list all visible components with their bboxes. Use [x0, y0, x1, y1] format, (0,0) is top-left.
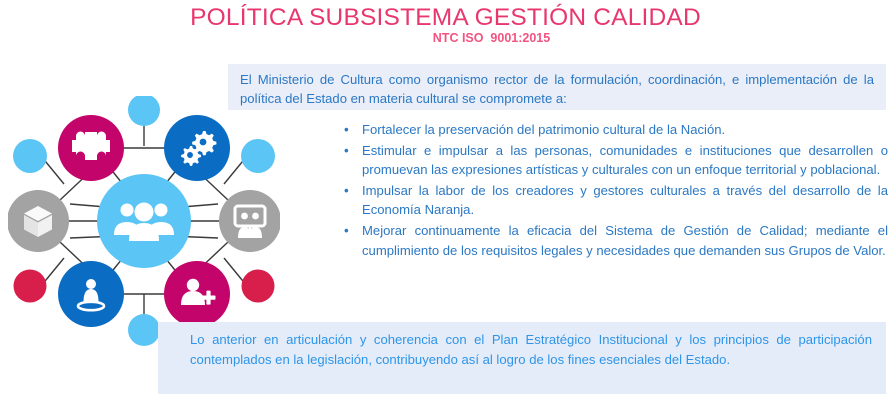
closing-paragraph: Lo anterior en articulación y coherencia…	[190, 330, 872, 369]
accent-dot-upper-right	[241, 139, 275, 173]
list-item-text: Mejorar continuamente la eficacia del Si…	[362, 221, 888, 260]
node-gears	[164, 115, 230, 181]
node-person-podium	[58, 261, 124, 327]
accent-dot-lower-right	[242, 270, 275, 303]
list-item: • Estimular e impulsar a las personas, c…	[340, 141, 888, 180]
page-title: POLÍTICA SUBSISTEMA GESTIÓN CALIDAD	[0, 4, 891, 32]
page-header: POLÍTICA SUBSISTEMA GESTIÓN CALIDAD NTC …	[0, 0, 891, 56]
bullet-marker-icon: •	[340, 221, 362, 241]
list-item: • Mejorar continuamente la eficacia del …	[340, 221, 888, 260]
bullet-marker-icon: •	[340, 120, 362, 140]
node-center-group-people	[97, 174, 191, 268]
commitments-list: • Fortalecer la preservación del patrimo…	[340, 120, 888, 261]
bullet-marker-icon: •	[340, 141, 362, 161]
list-item: • Impulsar la labor de los creadores y g…	[340, 181, 888, 220]
standard-subtitle: NTC ISO 9001:2015	[0, 31, 891, 45]
list-item-text: Estimular e impulsar a las personas, com…	[362, 141, 888, 180]
accent-dot-lower-left	[14, 270, 47, 303]
accent-dot-top-center	[128, 96, 160, 126]
intro-paragraph: El Ministerio de Cultura como organismo …	[240, 70, 874, 108]
accent-dot-bottom-center	[128, 314, 160, 346]
node-add-user	[164, 261, 230, 327]
list-item-text: Impulsar la labor de los creadores y ges…	[362, 181, 888, 220]
accent-dot-upper-left	[13, 139, 47, 173]
network-cluster-diagram	[8, 96, 280, 346]
node-puzzle-piece	[58, 115, 124, 181]
closing-text-box: Lo anterior en articulación y coherencia…	[158, 322, 886, 394]
list-item: • Fortalecer la preservación del patrimo…	[340, 120, 888, 140]
node-box-3d	[8, 190, 69, 252]
intro-text-box: El Ministerio de Cultura como organismo …	[228, 64, 886, 110]
bullet-marker-icon: •	[340, 181, 362, 201]
node-presentation-board	[219, 190, 280, 252]
list-item-text: Fortalecer la preservación del patrimoni…	[362, 120, 888, 140]
